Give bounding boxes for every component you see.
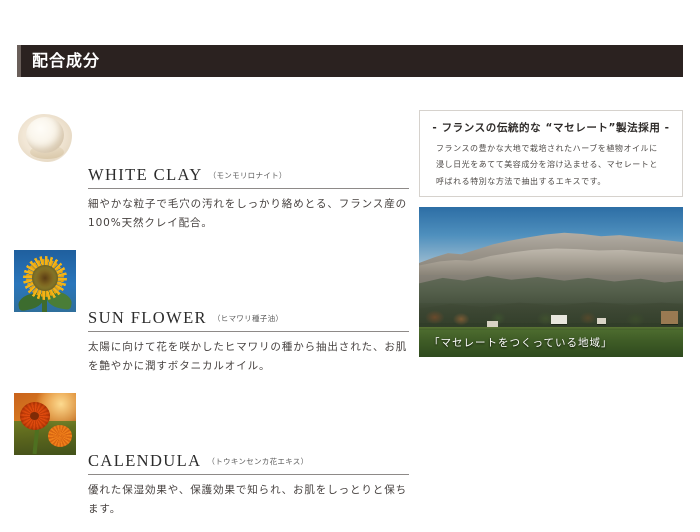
ingredient-kana: （トウキンセンカ花エキス） — [207, 457, 308, 466]
list-item: SUN FLOWER（ヒマワリ種子油） 太陽に向けて花を咲かしたヒマワリの種から… — [14, 246, 409, 377]
ingredient-heading: WHITE CLAY（モンモリロナイト） — [88, 165, 409, 189]
macerate-region-landscape-photo: 「マセレートをつくっている地域」 — [419, 207, 683, 357]
ingredient-body: CALENDULA（トウキンセンカ花エキス） 優れた保湿効果や、保護効果で知られ… — [88, 451, 409, 520]
page-title: 配合成分 — [32, 53, 100, 69]
ingredient-list: WHITE CLAY（モンモリロナイト） 細やかな粒子で毛穴の汚れをしっかり絡め… — [14, 103, 409, 532]
ingredient-body: WHITE CLAY（モンモリロナイト） 細やかな粒子で毛穴の汚れをしっかり絡め… — [88, 165, 409, 234]
page-root: 配合成分 WHITE CLAY（モンモリロナイト） 細やかな粒子で毛穴の汚れをし… — [0, 0, 700, 415]
ingredient-body: SUN FLOWER（ヒマワリ種子油） 太陽に向けて花を咲かしたヒマワリの種から… — [88, 308, 409, 377]
note-title: - フランスの伝統的な “マセレート”製法採用 - — [432, 120, 670, 135]
ingredient-heading: SUN FLOWER（ヒマワリ種子油） — [88, 308, 409, 332]
ingredient-description: 細やかな粒子で毛穴の汚れをしっかり絡めとる、フランス産の100%天然クレイ配合。 — [88, 195, 409, 234]
ingredient-name: SUN FLOWER — [88, 308, 207, 327]
ingredient-description: 優れた保湿効果や、保護効果で知られ、お肌をしっとりと保ちます。 — [88, 481, 409, 520]
header-accent-bar — [17, 45, 21, 77]
ingredient-name: CALENDULA — [88, 451, 201, 470]
list-item: CALENDULA（トウキンセンカ花エキス） 優れた保湿効果や、保護効果で知られ… — [14, 389, 409, 520]
photo-building — [661, 311, 678, 324]
ingredient-kana: （ヒマワリ種子油） — [213, 314, 283, 323]
photo-building — [551, 315, 567, 324]
section-header: 配合成分 — [17, 45, 683, 77]
photo-building — [597, 318, 606, 324]
photo-caption: 「マセレートをつくっている地域」 — [429, 335, 612, 350]
ingredient-name: WHITE CLAY — [88, 165, 203, 184]
calendula-flower-image — [14, 393, 76, 455]
macerate-note-box: - フランスの伝統的な “マセレート”製法採用 - フランスの豊かな大地で栽培さ… — [419, 110, 683, 197]
white-clay-powder-image — [14, 107, 76, 169]
ingredient-description: 太陽に向けて花を咲かしたヒマワリの種から抽出された、お肌を艶やかに潤すボタニカル… — [88, 338, 409, 377]
sunflower-image — [14, 250, 76, 312]
ingredient-heading: CALENDULA（トウキンセンカ花エキス） — [88, 451, 409, 475]
ingredient-kana: （モンモリロナイト） — [209, 171, 287, 180]
list-item: WHITE CLAY（モンモリロナイト） 細やかな粒子で毛穴の汚れをしっかり絡め… — [14, 103, 409, 234]
note-column: - フランスの伝統的な “マセレート”製法採用 - フランスの豊かな大地で栽培さ… — [419, 110, 683, 197]
note-text: フランスの豊かな大地で栽培されたハーブを植物オイルに浸し日光をあてて美容成分を溶… — [432, 141, 670, 190]
